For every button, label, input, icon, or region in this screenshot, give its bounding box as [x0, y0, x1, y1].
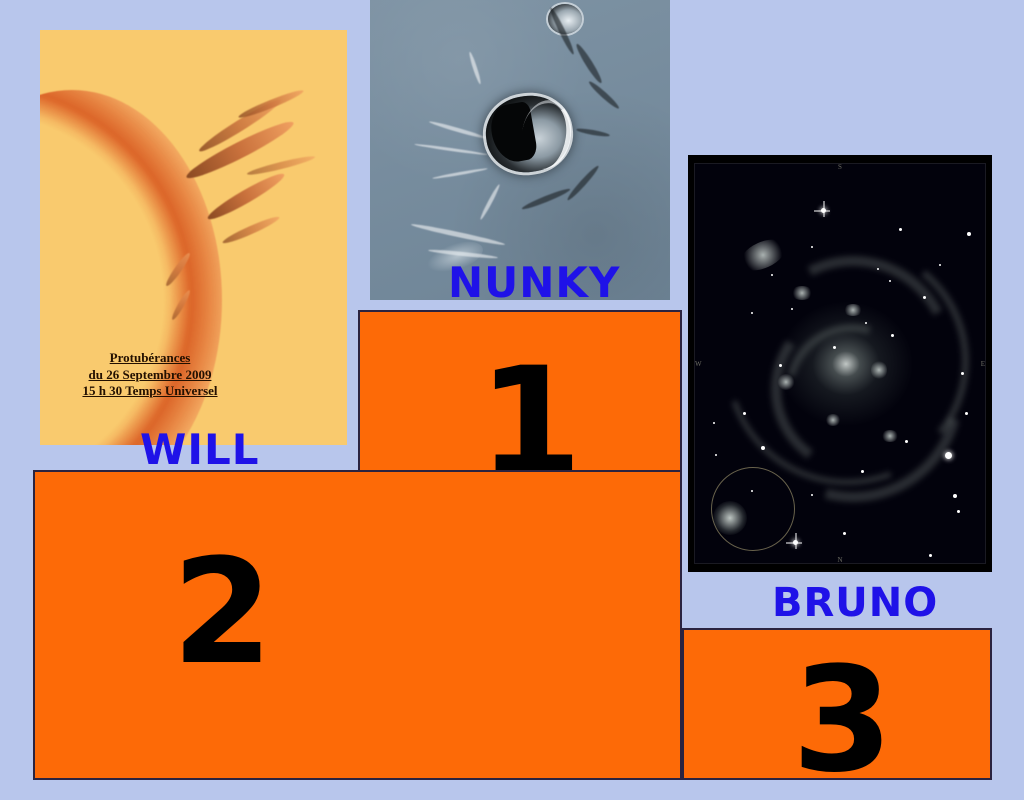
rank-number-2: 2	[172, 540, 273, 685]
star	[905, 440, 908, 443]
star	[945, 452, 952, 459]
star	[821, 208, 826, 213]
podium-scene: Protubérances du 26 Septembre 2009 15 h …	[0, 0, 1024, 800]
star	[891, 334, 894, 337]
galaxy-core	[776, 299, 916, 429]
star	[965, 412, 968, 415]
star	[889, 280, 891, 282]
star	[967, 232, 971, 236]
hii-region-knot	[791, 286, 813, 300]
solar-drawing-caption: Protubérances du 26 Septembre 2009 15 h …	[50, 350, 250, 400]
star	[761, 446, 765, 450]
hii-region-knot	[825, 414, 841, 426]
star	[713, 422, 715, 424]
rank-number-3: 3	[792, 648, 893, 793]
star	[771, 274, 773, 276]
cardinal-south-label: S	[838, 163, 842, 171]
star	[865, 322, 867, 324]
star	[939, 264, 941, 266]
caption-line-3: 15 h 30 Temps Universel	[50, 383, 250, 400]
inset-object-sketch	[713, 501, 747, 535]
hii-region-knot	[881, 430, 899, 442]
star	[779, 364, 782, 367]
galaxy-field: S N E W	[694, 163, 986, 564]
hii-region-knot	[843, 304, 863, 316]
drawing-spiral-galaxy[interactable]: S N E W	[688, 155, 992, 572]
star	[715, 454, 717, 456]
hii-region-knot	[777, 374, 795, 390]
star	[877, 268, 879, 270]
prominence-streak	[221, 214, 281, 247]
star	[953, 494, 957, 498]
cardinal-north-label: N	[837, 556, 842, 564]
star	[833, 346, 836, 349]
winner-name-third-place: BRUNO	[772, 580, 938, 626]
star	[899, 228, 902, 231]
star	[751, 312, 753, 314]
star	[923, 296, 926, 299]
star	[793, 540, 798, 545]
star	[861, 470, 864, 473]
caption-line-2: du 26 Septembre 2009	[50, 367, 250, 384]
cardinal-east-label: E	[981, 360, 985, 368]
star	[751, 490, 753, 492]
star	[811, 246, 813, 248]
star	[961, 372, 964, 375]
cardinal-west-label: W	[695, 360, 702, 368]
winner-name-second-place: WILL	[140, 425, 259, 474]
prominence-streak	[237, 87, 305, 121]
star	[929, 554, 932, 557]
hii-region-knot	[871, 360, 887, 380]
star	[791, 308, 793, 310]
podium-block-second-place[interactable]	[33, 470, 682, 780]
drawing-lunar-crater[interactable]	[370, 0, 670, 300]
winner-name-first-place: NUNKY	[448, 258, 620, 307]
caption-line-1: Protubérances	[50, 350, 250, 367]
star	[811, 494, 813, 496]
star	[843, 532, 846, 535]
drawing-solar-prominences[interactable]: Protubérances du 26 Septembre 2009 15 h …	[40, 30, 347, 445]
star	[743, 412, 746, 415]
star	[957, 510, 960, 513]
